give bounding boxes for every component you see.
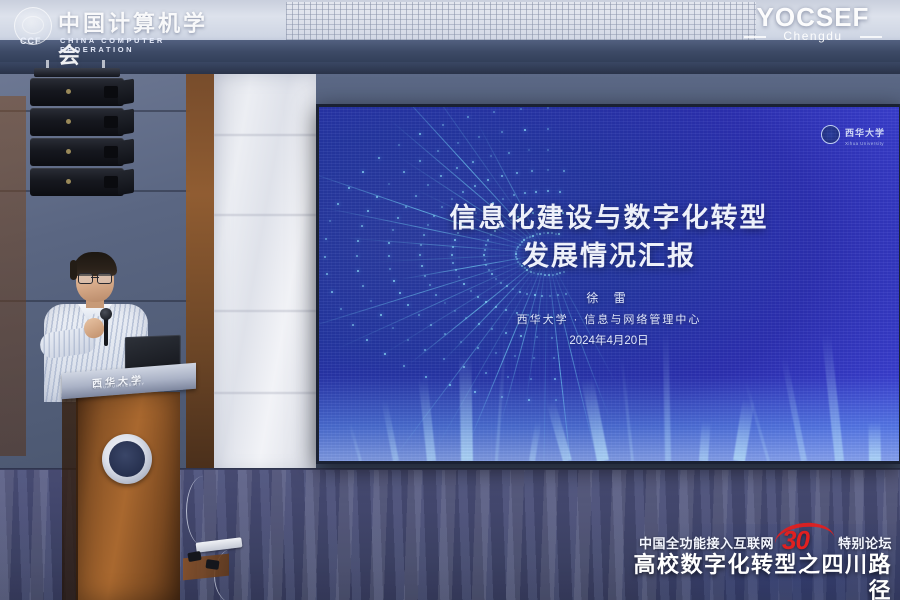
marble-wall-panel [214, 74, 316, 474]
forum-banner: 中国全功能接入互联网 30 特别论坛 高校数字化转型之四川路径 2024年4月2… [630, 532, 892, 594]
ccf-logo: CCF 中国计算机学会 CHINA COMPUTER FEDERATION [14, 4, 230, 50]
yocsef-wordmark-text: YOCSEF [757, 2, 870, 32]
university-emblem-icon [102, 434, 152, 484]
presentation-screen[interactable]: 西华大学 Xihua University 信息化建设与数字化转型 发展情况汇报… [316, 104, 900, 464]
cable [186, 476, 221, 546]
microphone [104, 316, 108, 346]
slide-surface: 西华大学 Xihua University 信息化建设与数字化转型 发展情况汇报… [319, 107, 899, 461]
forum-main-title: 高校数字化转型之四川路径 [630, 552, 892, 600]
wood-wall-accent-left [0, 96, 26, 456]
ceiling-vent-grille [286, 2, 756, 40]
ccf-name-en: CHINA COMPUTER FEDERATION [60, 36, 230, 54]
yocsef-city: Chengdu [740, 29, 886, 43]
power-plug [205, 559, 219, 570]
presenter-glasses [78, 273, 112, 282]
yocsef-logo: YOCSEF Chengdu [740, 3, 886, 51]
anniversary-30-icon: 30 [780, 529, 832, 555]
lectern-podium: 西华大学 XIHUA UNIVERSITY [62, 368, 196, 600]
conference-photo-scene: 西华大学 Xihua University 信息化建设与数字化转型 发展情况汇报… [0, 0, 900, 600]
anniversary-number: 30 [782, 525, 809, 556]
screen-pixel-grain [319, 107, 899, 461]
ccf-abbr: CCF [20, 36, 42, 46]
forum-suffix: 特别论坛 [838, 533, 892, 552]
podium-body [76, 392, 180, 600]
forum-prefix: 中国全功能接入互联网 [639, 533, 774, 552]
yocsef-wordmark: YOCSEF [740, 3, 886, 31]
line-array-loudspeakers [28, 58, 132, 190]
